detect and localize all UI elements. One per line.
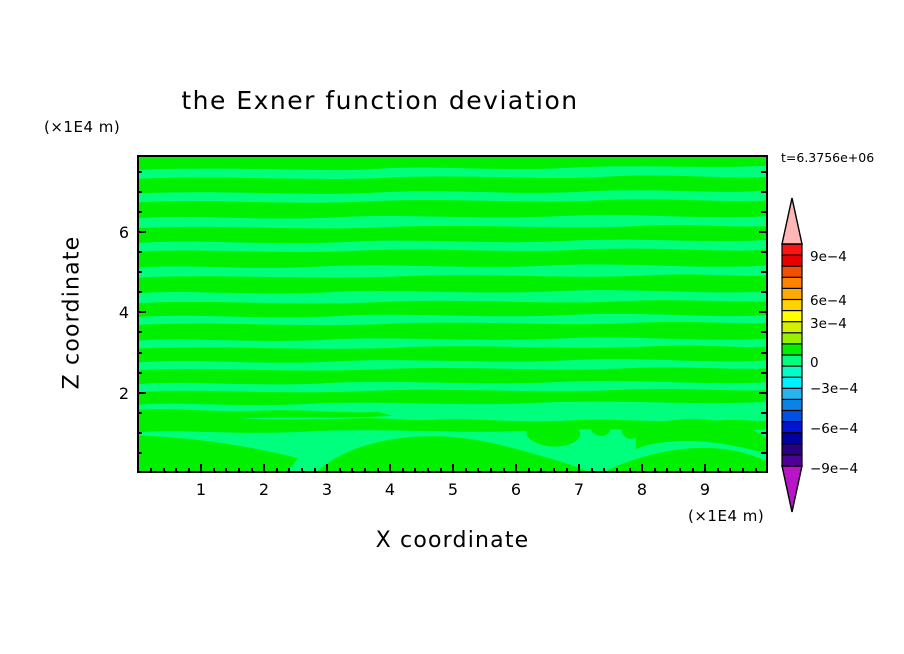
x-tick-minor xyxy=(251,468,253,473)
x-tick-minor xyxy=(465,468,467,473)
x-tick-minor xyxy=(414,468,416,473)
x-tick-major xyxy=(704,464,706,473)
colorbar-tick-label: 3e−4 xyxy=(810,316,847,332)
colorbar-band xyxy=(782,244,802,256)
y-tick-major xyxy=(137,392,146,394)
contour-field xyxy=(139,157,766,471)
colorbar-tick-label: 9e−4 xyxy=(810,249,847,265)
x-tick-minor xyxy=(629,468,631,473)
x-axis-tick-label: 8 xyxy=(627,480,657,499)
time-annotation: t=6.3756e+06 xyxy=(781,150,874,165)
y-tick-minor-right xyxy=(761,171,766,173)
x-tick-minor xyxy=(540,468,542,473)
x-tick-minor xyxy=(616,468,618,473)
x-tick-minor xyxy=(717,468,719,473)
y-tick-minor xyxy=(137,211,142,213)
y-tick-minor-right xyxy=(761,291,766,293)
y-tick-minor-right xyxy=(761,191,766,193)
page-title: the Exner function deviation xyxy=(0,86,760,115)
x-tick-minor xyxy=(288,468,290,473)
y-tick-minor xyxy=(137,191,142,193)
colorbar-tick-label: −3e−4 xyxy=(810,381,858,397)
y-tick-minor xyxy=(137,251,142,253)
x-tick-minor xyxy=(225,468,227,473)
x-tick-minor xyxy=(603,468,605,473)
x-tick-minor xyxy=(364,468,366,473)
y-tick-minor-right xyxy=(761,251,766,253)
x-tick-minor xyxy=(163,468,165,473)
colorbar-band xyxy=(782,377,802,389)
x-tick-major xyxy=(389,464,391,473)
x-tick-major xyxy=(515,464,517,473)
x-tick-minor xyxy=(477,468,479,473)
x-axis-tick-label: 3 xyxy=(312,480,342,499)
y-tick-minor xyxy=(137,452,142,454)
x-tick-minor xyxy=(150,468,152,473)
colorbar-band xyxy=(782,322,802,334)
colorbar-tick-label: −9e−4 xyxy=(810,461,858,477)
colorbar-band xyxy=(782,433,802,445)
x-tick-minor xyxy=(402,468,404,473)
x-tick-minor xyxy=(566,468,568,473)
y-tick-minor xyxy=(137,352,142,354)
x-tick-major xyxy=(200,464,202,473)
colorbar-band xyxy=(782,355,802,367)
x-axis-tick-label: 1 xyxy=(186,480,216,499)
x-axis-tick-label: 4 xyxy=(375,480,405,499)
y-tick-minor-right xyxy=(761,372,766,374)
x-tick-minor xyxy=(729,468,731,473)
y-tick-minor xyxy=(137,331,142,333)
x-axis-tick-label: 2 xyxy=(249,480,279,499)
x-tick-minor xyxy=(553,468,555,473)
y-tick-minor xyxy=(137,372,142,374)
x-tick-minor xyxy=(301,468,303,473)
colorbar-band xyxy=(782,366,802,378)
colorbar-tick-label: 6e−4 xyxy=(810,293,847,309)
colorbar-band xyxy=(782,266,802,278)
colorbar-band xyxy=(782,311,802,323)
y-tick-major xyxy=(137,231,146,233)
colorbar-band xyxy=(782,344,802,356)
x-axis-tick-label: 5 xyxy=(438,480,468,499)
y-axis-tick-label: 6 xyxy=(103,223,129,242)
y-axis-tick-label: 2 xyxy=(103,384,129,403)
x-tick-major xyxy=(326,464,328,473)
x-tick-minor xyxy=(755,468,757,473)
y-tick-minor-right xyxy=(761,331,766,333)
colorbar-band xyxy=(782,422,802,434)
x-tick-minor xyxy=(238,468,240,473)
colorbar-band xyxy=(782,411,802,423)
y-tick-major xyxy=(137,311,146,313)
x-tick-minor xyxy=(692,468,694,473)
x-tick-minor xyxy=(591,468,593,473)
y-tick-minor-right xyxy=(761,432,766,434)
y-tick-minor xyxy=(137,432,142,434)
x-tick-minor xyxy=(742,468,744,473)
y-tick-major-right xyxy=(759,311,768,313)
x-tick-minor xyxy=(427,468,429,473)
y-tick-minor-right xyxy=(761,271,766,273)
x-tick-minor xyxy=(175,468,177,473)
x-tick-minor xyxy=(679,468,681,473)
x-tick-minor xyxy=(276,468,278,473)
y-tick-minor xyxy=(137,291,142,293)
x-axis-tick-label: 9 xyxy=(690,480,720,499)
y-tick-minor-right xyxy=(761,452,766,454)
x-tick-major xyxy=(641,464,643,473)
colorbar-tick-label: 0 xyxy=(810,355,819,371)
x-tick-minor xyxy=(351,468,353,473)
y-tick-minor xyxy=(137,271,142,273)
x-tick-minor xyxy=(490,468,492,473)
x-tick-minor xyxy=(654,468,656,473)
y-tick-minor-right xyxy=(761,211,766,213)
colorbar-tick-label: −6e−4 xyxy=(810,421,858,437)
y-tick-major-right xyxy=(759,231,768,233)
colorbar-band xyxy=(782,277,802,289)
x-tick-minor xyxy=(440,468,442,473)
x-tick-minor xyxy=(339,468,341,473)
colorbar-band xyxy=(782,333,802,345)
z-axis-unit-label: (×1E4 m) xyxy=(44,118,120,136)
y-tick-major-right xyxy=(759,392,768,394)
x-tick-minor xyxy=(377,468,379,473)
x-axis-unit-label: (×1E4 m) xyxy=(688,507,764,525)
colorbar-band xyxy=(782,455,802,467)
colorbar-band xyxy=(782,399,802,411)
x-axis-tick-label: 6 xyxy=(501,480,531,499)
x-tick-minor xyxy=(666,468,668,473)
y-tick-minor-right xyxy=(761,352,766,354)
y-tick-minor xyxy=(137,412,142,414)
y-axis-tick-label: 4 xyxy=(103,303,129,322)
x-tick-major xyxy=(263,464,265,473)
colorbar-band xyxy=(782,388,802,400)
colorbar-band xyxy=(782,255,802,267)
x-tick-minor xyxy=(188,468,190,473)
x-tick-minor xyxy=(503,468,505,473)
x-tick-major xyxy=(578,464,580,473)
y-axis-title: Z coordinate xyxy=(60,193,85,433)
colorbar-band xyxy=(782,288,802,300)
contour-plot-frame xyxy=(137,155,768,473)
x-tick-minor xyxy=(314,468,316,473)
y-tick-minor xyxy=(137,171,142,173)
colorbar xyxy=(779,196,805,514)
colorbar-band xyxy=(782,444,802,456)
x-tick-minor xyxy=(528,468,530,473)
colorbar-band xyxy=(782,300,802,312)
x-axis-title: X coordinate xyxy=(137,528,768,553)
x-tick-minor xyxy=(213,468,215,473)
x-axis-tick-label: 7 xyxy=(564,480,594,499)
y-tick-minor-right xyxy=(761,412,766,414)
x-tick-major xyxy=(452,464,454,473)
